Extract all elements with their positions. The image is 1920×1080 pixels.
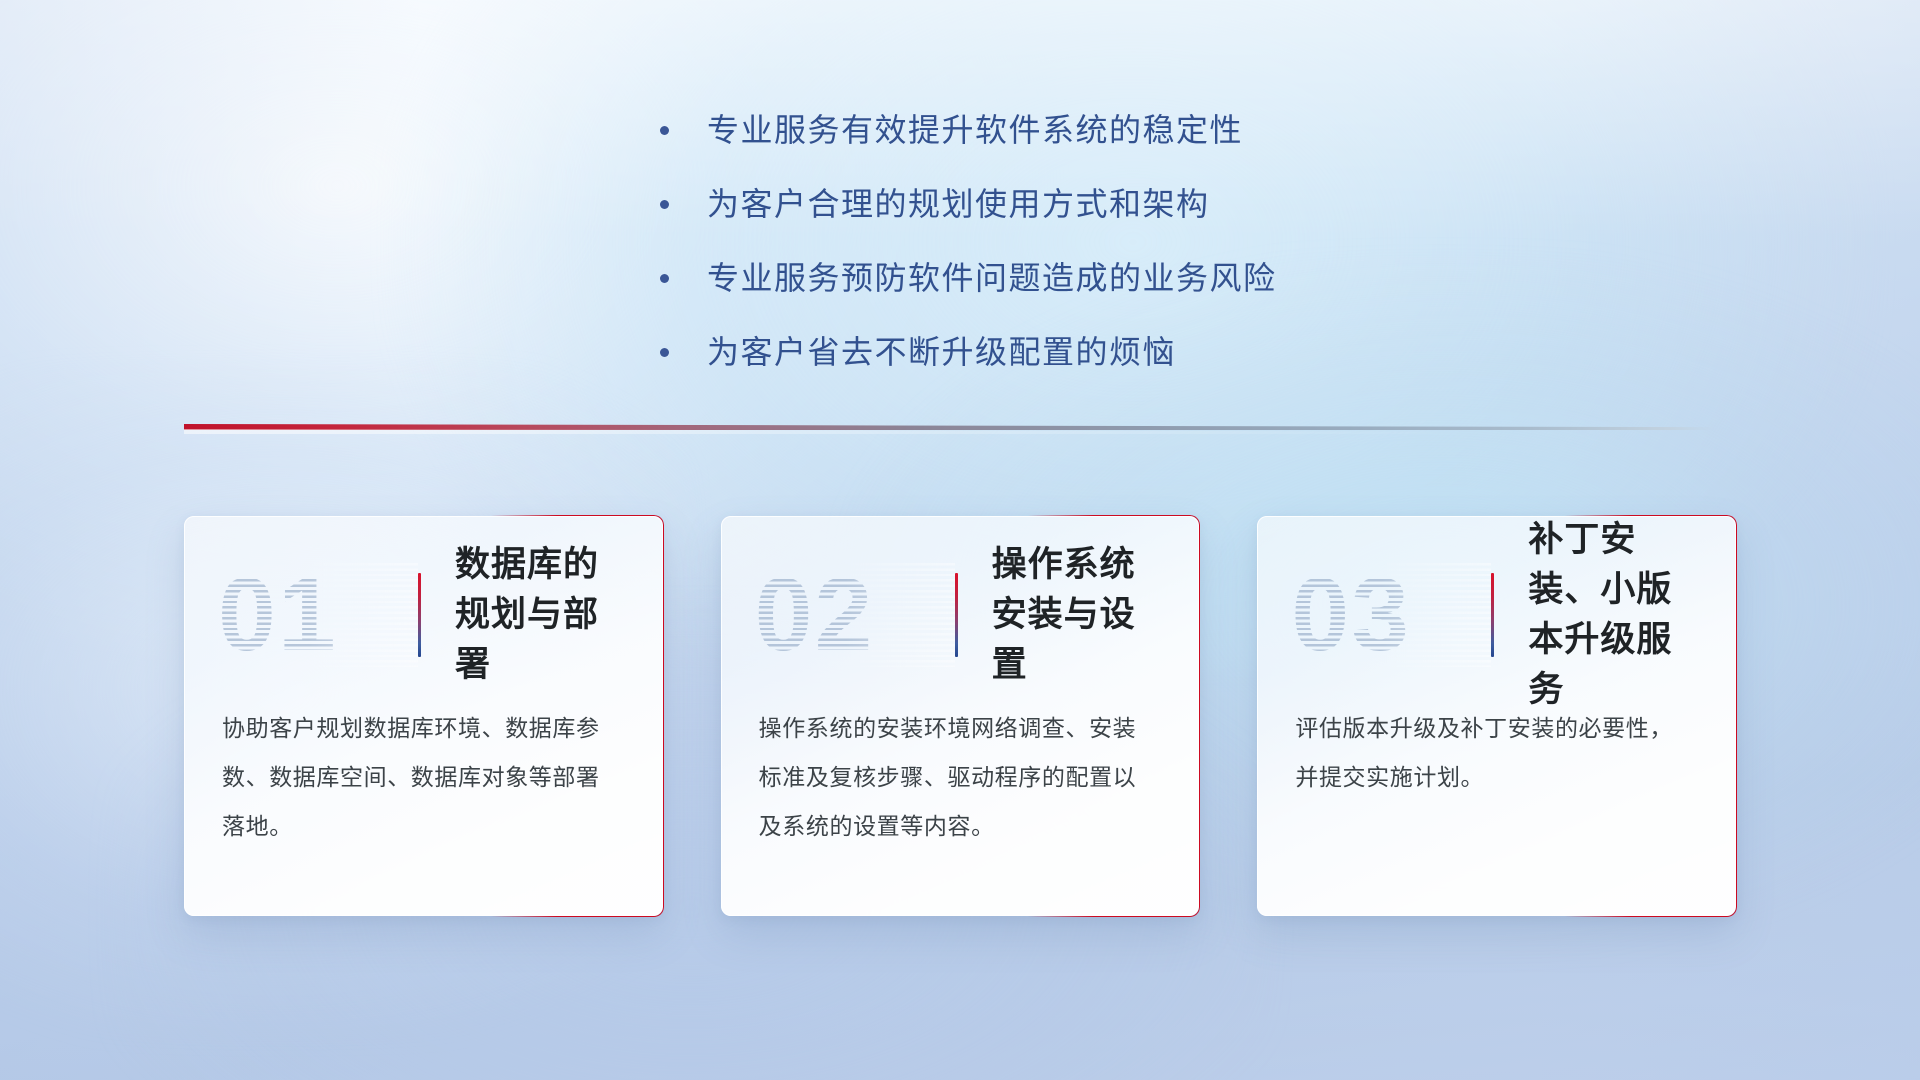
card-body-text: 协助客户规划数据库环境、数据库参数、数据库空间、数据库对象等部署落地。 [184, 676, 663, 851]
card-header: 01 数据库的规划与部署 [184, 516, 663, 676]
bullet-dot-icon [660, 200, 669, 209]
bullet-dot-icon [660, 126, 669, 135]
card-header: 02 操作系统安装与设置 [721, 516, 1200, 676]
card-divider-rule [955, 573, 958, 657]
card-divider-rule [1491, 573, 1494, 657]
card-header: 03 补丁安装、小版本升级服务 [1257, 516, 1736, 676]
benefits-bullet-list: 专业服务有效提升软件系统的稳定性 为客户合理的规划使用方式和架构 专业服务预防软… [660, 108, 1420, 404]
card-divider-rule [418, 573, 421, 657]
card-title: 数据库的规划与部署 [455, 540, 629, 690]
service-card-02[interactable]: 02 操作系统安装与设置 操作系统的安装环境网络调查、安装标准及复核步骤、驱动程… [721, 516, 1200, 916]
card-title: 补丁安装、小版本升级服务 [1528, 515, 1702, 715]
card-title: 操作系统安装与设置 [992, 540, 1166, 690]
list-item: 专业服务预防软件问题造成的业务风险 [660, 256, 1420, 300]
service-card-row: 01 数据库的规划与部署 协助客户规划数据库环境、数据库参数、数据库空间、数据库… [184, 516, 1736, 916]
bullet-text: 为客户省去不断升级配置的烦恼 [707, 330, 1176, 374]
list-item: 为客户省去不断升级配置的烦恼 [660, 330, 1420, 374]
bullet-dot-icon [660, 348, 669, 357]
bullet-dot-icon [660, 274, 669, 283]
card-number-watermark: 01 [218, 563, 418, 667]
bullet-text: 为客户合理的规划使用方式和架构 [707, 182, 1210, 226]
section-divider [184, 418, 1714, 440]
card-body-text: 操作系统的安装环境网络调查、安装标准及复核步骤、驱动程序的配置以及系统的设置等内… [721, 676, 1200, 851]
bullet-text: 专业服务有效提升软件系统的稳定性 [707, 108, 1243, 152]
service-card-03[interactable]: 03 补丁安装、小版本升级服务 评估版本升级及补丁安装的必要性，并提交实施计划。 [1257, 516, 1736, 916]
card-number-watermark: 02 [755, 563, 955, 667]
list-item: 为客户合理的规划使用方式和架构 [660, 182, 1420, 226]
section-divider-line [184, 424, 1714, 430]
bullet-text: 专业服务预防软件问题造成的业务风险 [707, 256, 1277, 300]
list-item: 专业服务有效提升软件系统的稳定性 [660, 108, 1420, 152]
card-number-watermark: 03 [1291, 563, 1491, 667]
service-card-01[interactable]: 01 数据库的规划与部署 协助客户规划数据库环境、数据库参数、数据库空间、数据库… [184, 516, 663, 916]
